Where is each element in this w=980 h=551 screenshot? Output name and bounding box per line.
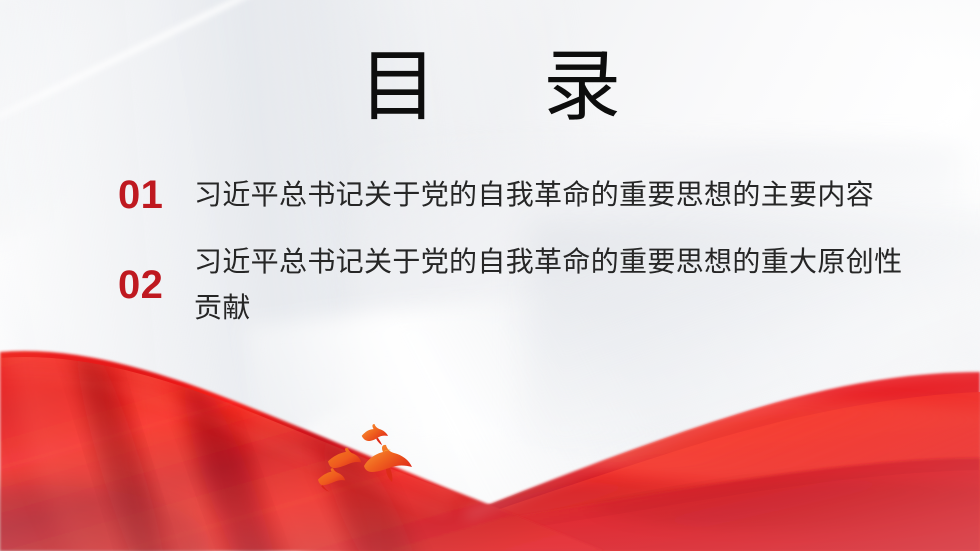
dove-1 <box>362 424 388 445</box>
toc-number-02: 02 <box>118 265 194 305</box>
dove-4 <box>318 468 345 491</box>
toc-number-01: 01 <box>118 175 194 215</box>
toc-label-01: 习近平总书记关于党的自我革命的重要思想的主要内容 <box>194 172 908 217</box>
toc-item-01[interactable]: 01 习近平总书记关于党的自我革命的重要思想的主要内容 <box>118 172 908 217</box>
page-title: 目 录 <box>0 48 980 126</box>
dove-3 <box>364 445 412 482</box>
toc-label-02: 习近平总书记关于党的自我革命的重要思想的重大原创性贡献 <box>194 239 908 330</box>
toc-list: 01 习近平总书记关于党的自我革命的重要思想的主要内容 02 习近平总书记关于党… <box>118 172 908 330</box>
toc-item-02[interactable]: 02 习近平总书记关于党的自我革命的重要思想的重大原创性贡献 <box>118 239 908 330</box>
presentation-slide: 目 录 01 习近平总书记关于党的自我革命的重要思想的主要内容 02 习近平总书… <box>0 0 980 551</box>
flying-doves-icon <box>316 418 426 498</box>
